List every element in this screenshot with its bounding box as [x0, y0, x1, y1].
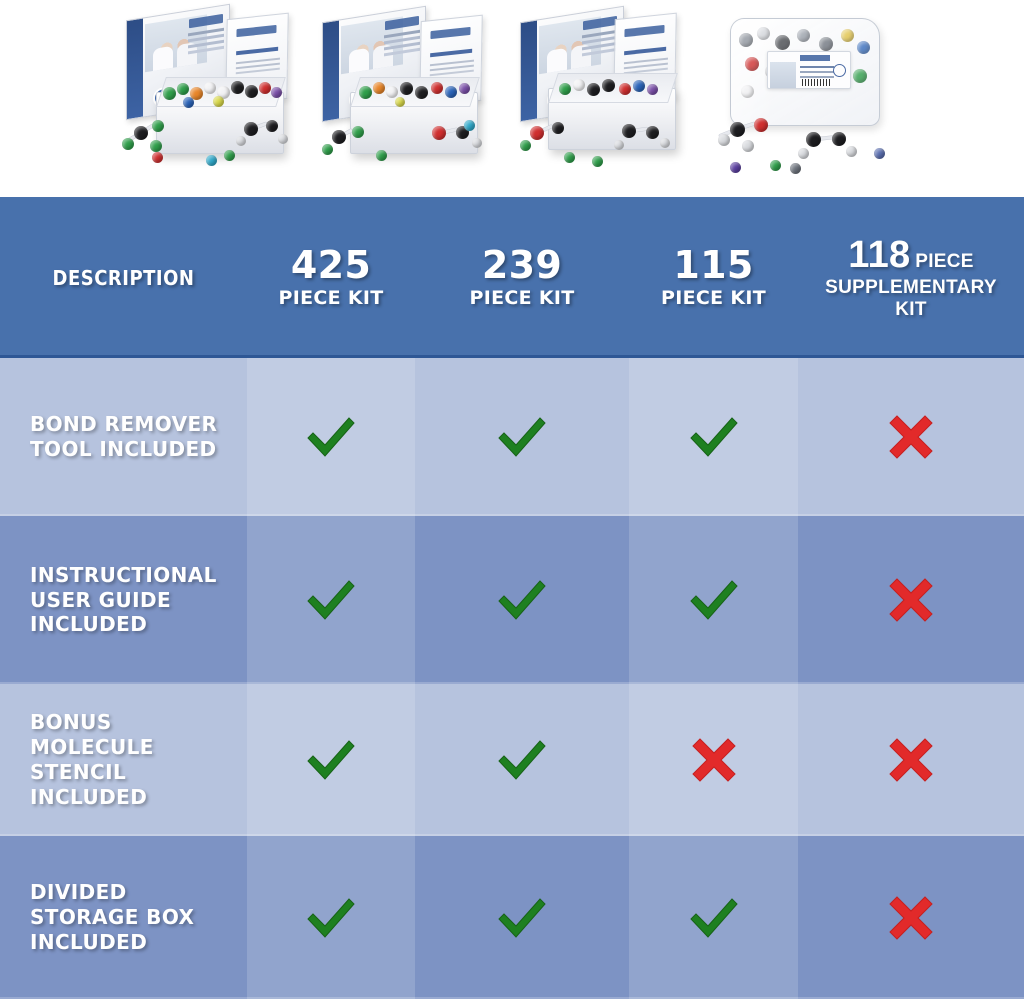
row-label-line: INCLUDED — [30, 612, 247, 637]
loose-atom — [224, 150, 235, 161]
loose-atom — [592, 156, 603, 167]
column-header-description: DESCRIPTION — [0, 266, 247, 290]
tray-compartments — [548, 73, 678, 103]
column-header-115-number: 115 — [673, 246, 753, 284]
booklet-brand-logo-icon — [236, 25, 276, 37]
cross-icon — [689, 735, 739, 785]
cell-118-bond-remover — [798, 358, 1024, 516]
tray-compartments — [350, 77, 480, 107]
cell-239-bond-remover — [415, 358, 629, 516]
check-icon — [494, 735, 550, 785]
column-header-239-sub: PIECE KIT — [470, 288, 575, 310]
check-icon — [303, 575, 359, 625]
box-lid-spine — [521, 21, 537, 122]
loose-atom — [564, 152, 575, 163]
loose-atom — [874, 148, 885, 159]
table-row: BONUS MOLECULE STENCIL INCLUDED — [0, 684, 1024, 836]
row-label-line: USER GUIDE — [30, 588, 247, 613]
loose-atom — [730, 162, 741, 173]
table-body: BOND REMOVER TOOL INCLUDED — [0, 358, 1024, 999]
cell-118-stencil — [798, 684, 1024, 836]
column-header-118-piece-supplementary-kit: 118 PIECE SUPPLEMENTARY KIT — [798, 234, 1024, 321]
check-icon — [686, 412, 742, 462]
product-image-strip — [0, 0, 1024, 197]
row-label-line: TOOL INCLUDED — [30, 437, 247, 462]
booklet-brand-logo-icon — [430, 27, 470, 39]
row-label-line: MOLECULE — [30, 735, 247, 760]
box-lid-spine — [323, 21, 339, 122]
cell-425-user-guide — [247, 516, 415, 684]
column-header-425-number: 425 — [291, 246, 371, 284]
row-label-line: DIVIDED — [30, 880, 247, 905]
column-header-118-line2: SUPPLEMENTARY — [825, 277, 997, 299]
loose-atom — [464, 120, 475, 131]
barcode-icon — [802, 79, 832, 86]
row-label-line: INSTRUCTIONAL — [30, 563, 247, 588]
column-header-239-piece-kit: 239 PIECE KIT — [415, 246, 629, 310]
cell-239-storage-box — [415, 836, 629, 999]
brand-logo-icon — [800, 55, 830, 61]
booklet-title-bar — [624, 47, 666, 55]
loose-atom — [770, 160, 781, 171]
column-header-115-piece-kit: 115 PIECE KIT — [629, 246, 798, 310]
check-icon — [303, 893, 359, 943]
product-photo-118-piece-supplementary-kit[interactable] — [714, 0, 910, 180]
check-icon — [303, 735, 359, 785]
bag-label-photo — [770, 62, 796, 88]
booklet-title-bar — [236, 47, 278, 55]
row-label-line: STENCIL — [30, 760, 247, 785]
row-label-divided-storage-box: DIVIDED STORAGE BOX INCLUDED — [0, 880, 247, 954]
row-label-line: INCLUDED — [30, 785, 247, 810]
box-tray — [350, 92, 478, 154]
column-header-425-piece-kit: 425 PIECE KIT — [247, 246, 415, 310]
row-label-line: STORAGE BOX — [30, 905, 247, 930]
row-label-line: INCLUDED — [30, 930, 247, 955]
loose-atom — [206, 155, 217, 166]
table-header-row: DESCRIPTION 425 PIECE KIT 239 PIECE KIT … — [0, 197, 1024, 358]
check-icon — [494, 412, 550, 462]
booklet-text-lines — [430, 60, 474, 67]
bag-label-text-lines — [800, 66, 834, 68]
loose-atom — [790, 163, 801, 174]
comparison-table: DESCRIPTION 425 PIECE KIT 239 PIECE KIT … — [0, 197, 1024, 999]
cross-icon — [886, 735, 936, 785]
cell-115-storage-box — [629, 836, 798, 999]
column-header-118-line1: 118 PIECE — [848, 234, 974, 277]
check-icon — [494, 575, 550, 625]
cell-115-user-guide — [629, 516, 798, 684]
tray-compartments — [156, 77, 286, 107]
cross-icon — [886, 893, 936, 943]
booklet-text-lines — [624, 58, 668, 65]
cell-239-user-guide — [415, 516, 629, 684]
cell-115-stencil — [629, 684, 798, 836]
row-label-line: BONUS — [30, 710, 247, 735]
column-header-425-sub: PIECE KIT — [279, 288, 384, 310]
cell-118-user-guide — [798, 516, 1024, 684]
column-header-239-number: 239 — [482, 246, 562, 284]
cross-icon — [886, 412, 936, 462]
cross-icon — [886, 575, 936, 625]
row-label-bonus-molecule-stencil: BONUS MOLECULE STENCIL INCLUDED — [0, 710, 247, 809]
poly-bag — [730, 18, 880, 126]
box-tray — [548, 88, 676, 150]
cell-425-stencil — [247, 684, 415, 836]
product-photo-239-piece-kit[interactable] — [314, 0, 510, 180]
piece-count-badge — [833, 64, 846, 77]
column-header-118-sub: PIECE — [915, 251, 974, 272]
box-lid-spine — [127, 19, 143, 120]
cell-425-storage-box — [247, 836, 415, 999]
check-icon — [303, 412, 359, 462]
bag-product-label — [767, 51, 851, 89]
column-header-118-line3: KIT — [895, 299, 927, 321]
booklet-text-lines — [236, 58, 280, 65]
column-header-115-sub: PIECE KIT — [661, 288, 766, 310]
check-icon — [686, 893, 742, 943]
column-header-description-label: DESCRIPTION — [53, 266, 195, 290]
check-icon — [686, 575, 742, 625]
loose-atom — [376, 150, 387, 161]
column-header-118-number: 118 — [848, 234, 910, 276]
booklet-title-bar — [430, 49, 472, 57]
table-row: INSTRUCTIONAL USER GUIDE INCLUDED — [0, 516, 1024, 684]
booklet-brand-logo-icon — [624, 25, 664, 37]
table-row: DIVIDED STORAGE BOX INCLUDED — [0, 836, 1024, 999]
loose-atom — [152, 152, 163, 163]
table-row: BOND REMOVER TOOL INCLUDED — [0, 358, 1024, 516]
cell-118-storage-box — [798, 836, 1024, 999]
cell-115-bond-remover — [629, 358, 798, 516]
product-photo-115-piece-kit[interactable] — [514, 0, 710, 180]
row-label-instructional-user-guide: INSTRUCTIONAL USER GUIDE INCLUDED — [0, 563, 247, 637]
cell-239-stencil — [415, 684, 629, 836]
cell-425-bond-remover — [247, 358, 415, 516]
check-icon — [494, 893, 550, 943]
product-photo-425-piece-kit[interactable] — [114, 0, 310, 180]
row-label-bond-remover-tool: BOND REMOVER TOOL INCLUDED — [0, 412, 247, 462]
row-label-line: BOND REMOVER — [30, 412, 247, 437]
